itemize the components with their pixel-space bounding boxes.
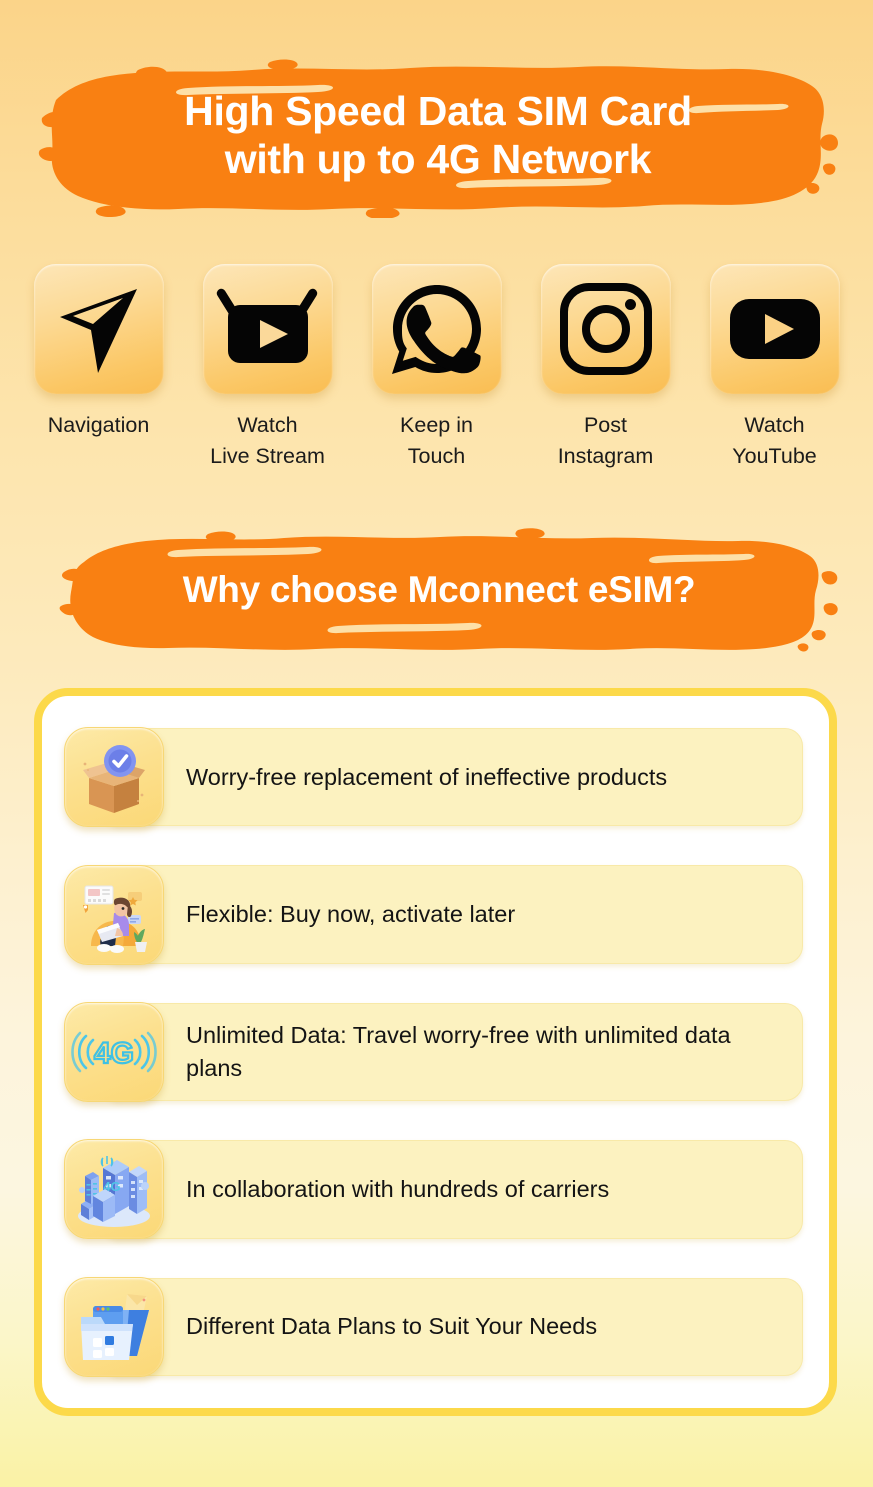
benefit-row[interactable]: Flexible: Buy now, activate later: [64, 859, 807, 969]
folder-documents-icon: [71, 1284, 157, 1370]
benefit-icon-tile: [64, 865, 164, 965]
open-box-check-icon: [71, 734, 157, 820]
why-banner: Why choose Mconnect eSIM?: [58, 528, 840, 653]
tile-instagram[interactable]: [541, 264, 671, 394]
benefit-icon-tile: 4G: [64, 1002, 164, 1102]
use-case-instagram[interactable]: Post Instagram: [540, 264, 672, 471]
use-case-keep-in-touch[interactable]: Keep in Touch: [371, 264, 503, 471]
benefit-row[interactable]: Worry-free replacement of ineffective pr…: [64, 722, 807, 832]
use-case-youtube[interactable]: Watch YouTube: [709, 264, 841, 471]
benefit-text: Flexible: Buy now, activate later: [186, 898, 539, 931]
use-case-navigation[interactable]: Navigation: [33, 264, 165, 471]
svg-text:4G: 4G: [103, 1179, 120, 1194]
use-case-live-stream[interactable]: Watch Live Stream: [202, 264, 334, 471]
use-case-tiles-row: Navigation Watch Live Stream Keep in: [0, 264, 873, 471]
benefit-row[interactable]: 4G Unlimited Data: Travel worry-free wit…: [64, 997, 807, 1107]
tile-label-instagram: Post Instagram: [558, 410, 654, 471]
tile-label-live-stream: Watch Live Stream: [210, 410, 325, 471]
benefit-text: Worry-free replacement of ineffective pr…: [186, 761, 691, 794]
benefit-icon-tile: [64, 1277, 164, 1377]
youtube-icon: [723, 277, 827, 381]
benefit-row[interactable]: Different Data Plans to Suit Your Needs: [64, 1272, 807, 1382]
tile-label-keep-in-touch: Keep in Touch: [400, 410, 473, 471]
benefit-text: In collaboration with hundreds of carrie…: [186, 1173, 633, 1206]
hero-title: High Speed Data SIM Card with up to 4G N…: [184, 88, 692, 187]
isometric-city-icon: 4G: [71, 1146, 157, 1232]
instagram-icon: [554, 277, 658, 381]
tile-label-youtube: Watch YouTube: [732, 410, 817, 471]
benefit-row[interactable]: 4G In collaboration with hundreds of car…: [64, 1134, 807, 1244]
benefit-text: Different Data Plans to Suit Your Needs: [186, 1310, 621, 1343]
tile-live-stream[interactable]: [203, 264, 333, 394]
tv-live-stream-icon: [216, 277, 320, 381]
promo-page: High Speed Data SIM Card with up to 4G N…: [0, 0, 873, 1487]
hero-banner: High Speed Data SIM Card with up to 4G N…: [38, 58, 838, 218]
tile-youtube[interactable]: [710, 264, 840, 394]
why-title: Why choose Mconnect eSIM?: [183, 569, 716, 612]
svg-text:4G: 4G: [94, 1037, 134, 1070]
whatsapp-icon: [385, 277, 489, 381]
4g-signal-icon: 4G: [71, 1009, 157, 1095]
tile-whatsapp[interactable]: [372, 264, 502, 394]
benefits-card: Worry-free replacement of ineffective pr…: [34, 688, 837, 1416]
tile-label-navigation: Navigation: [48, 410, 150, 441]
person-laptop-beanbag-icon: [71, 872, 157, 958]
navigation-arrow-icon: [47, 277, 151, 381]
benefit-icon-tile: [64, 727, 164, 827]
tile-navigation[interactable]: [34, 264, 164, 394]
benefit-text: Unlimited Data: Travel worry-free with u…: [186, 1019, 807, 1086]
benefit-icon-tile: 4G: [64, 1139, 164, 1239]
